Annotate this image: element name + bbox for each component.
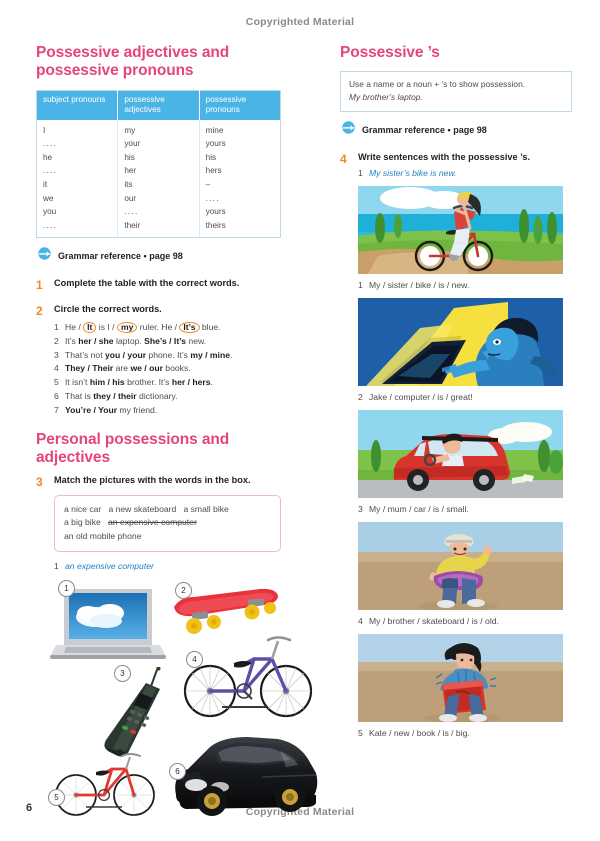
cell-subject: I <box>37 120 118 138</box>
cell-subject: .... <box>37 137 118 151</box>
right-column: Possessive ’s Use a name or a noun + ’s … <box>340 44 572 738</box>
prompt-number: 4 <box>358 616 363 626</box>
item-text: . <box>230 350 232 360</box>
word-box-line: a big bike an expensive computer <box>64 516 271 530</box>
prompt-text: My / sister / bike / is / new. <box>369 280 469 290</box>
word-box-option[interactable]: an old mobile phone <box>64 531 141 541</box>
word-box-option[interactable]: an expensive computer <box>108 517 197 527</box>
option-pair[interactable]: You’re / Your <box>65 405 117 415</box>
exercise-3-title: Match the pictures with the words in the… <box>54 475 251 487</box>
exercise-4-number: 4 <box>340 152 351 165</box>
grammar-reference-left[interactable]: Grammar reference • page 98 <box>38 247 281 265</box>
possessive-tip-box: Use a name or a noun + ’s to show posses… <box>340 71 572 111</box>
cell-pronoun: his <box>199 151 280 165</box>
exercise-4-title: Write sentences with the possessive ’s. <box>358 152 530 164</box>
option-pair[interactable]: my / mine <box>190 350 230 360</box>
item-text: dictionary. <box>137 391 178 401</box>
cell-subject: he <box>37 151 118 165</box>
exercise-1: 1 Complete the table with the correct wo… <box>36 278 281 291</box>
prompt-text: Kate / new / book / is / big. <box>369 728 470 738</box>
cell-adjective: my <box>118 120 199 138</box>
option-pair[interactable]: her / she <box>78 336 113 346</box>
prompt-number: 1 <box>358 280 363 290</box>
table-header-row: subject pronouns possessive adjectives p… <box>37 90 281 120</box>
cell-pronoun: hers <box>199 164 280 178</box>
exercise-3-number: 3 <box>36 475 47 488</box>
exercise-2-item[interactable]: 1He / It is I / my ruler. He / It’s blue… <box>54 321 281 335</box>
grammar-reference-label: Grammar reference • page 98 <box>362 125 487 135</box>
item-text: That is <box>65 391 93 401</box>
option-pair[interactable]: She’s / It’s <box>144 336 186 346</box>
cell-adjective: our <box>118 192 199 206</box>
cell-pronoun: yours <box>199 205 280 219</box>
item-text: brother. It’s <box>125 377 172 387</box>
word-box-option[interactable]: a new skateboard <box>108 504 176 514</box>
exercise-4-prompt-3: 3 My / mum / car / is / small. <box>358 504 572 514</box>
section-title-possessives: Possessive adjectives and possessive pro… <box>36 44 281 81</box>
item-number: 1 <box>54 321 59 335</box>
prompt-text: My / brother / skateboard / is / old. <box>369 616 499 626</box>
grammar-reference-icon <box>38 247 51 265</box>
illustration-boy-with-skateboard <box>358 522 563 610</box>
watermark-top: Copyrighted Material <box>0 16 600 28</box>
cell-adjective: his <box>118 151 199 165</box>
prompt-number: 5 <box>358 728 363 738</box>
circled-answer[interactable]: my <box>117 322 137 333</box>
word-box: a nice car a new skateboard a small bike… <box>54 495 281 553</box>
exercise-2-item[interactable]: 6That is they / their dictionary. <box>54 390 281 404</box>
illustration-girl-carrying-red-book <box>358 634 563 722</box>
exercise-2-number: 2 <box>36 304 47 317</box>
cell-subject: you <box>37 205 118 219</box>
exercise-2: 2 Circle the correct words. 1He / It is … <box>36 304 281 418</box>
table-header-possessive-adjectives: possessive adjectives <box>118 90 199 120</box>
item-text: laptop. <box>114 336 145 346</box>
table-row: ....youryours <box>37 137 281 151</box>
page-number: 6 <box>26 802 32 814</box>
table-header-possessive-pronouns: possessive pronouns <box>199 90 280 120</box>
exercise-2-item[interactable]: 7You’re / Your my friend. <box>54 404 281 418</box>
prompt-number: 3 <box>358 504 363 514</box>
table-row: hehishis <box>37 151 281 165</box>
item-text: It isn’t <box>65 377 90 387</box>
answer-number: 1 <box>54 561 59 571</box>
option-pair[interactable]: her / hers <box>172 377 211 387</box>
item-text: . <box>211 377 213 387</box>
table-row: ....theirtheirs <box>37 219 281 237</box>
example-number: 1 <box>358 168 363 178</box>
item-text: new. <box>186 336 206 346</box>
option-pair[interactable]: him / his <box>90 377 125 387</box>
option-pair[interactable]: we / our <box>130 363 162 373</box>
cell-pronoun: mine <box>199 120 280 138</box>
example-text: My sister’s bike is new. <box>369 168 457 178</box>
word-box-line: an old mobile phone <box>64 530 271 544</box>
cell-adjective: her <box>118 164 199 178</box>
item-text: It’s <box>65 336 78 346</box>
picture-red-small-bike <box>52 749 156 819</box>
circled-answer[interactable]: It <box>83 322 96 333</box>
exercise-2-items: 1He / It is I / my ruler. He / It’s blue… <box>36 321 281 418</box>
exercise-4-prompt-1: 1 My / sister / bike / is / new. <box>358 280 572 290</box>
table-body: Imymine ....youryours hehishis ....herhe… <box>37 120 281 238</box>
item-text: my friend. <box>117 405 157 415</box>
illustration-woman-driving-red-car <box>358 410 563 498</box>
picture-grid: 1 2 <box>36 577 281 827</box>
item-text: are <box>113 363 130 373</box>
circled-answer[interactable]: It’s <box>179 322 199 333</box>
item-number: 2 <box>54 335 59 349</box>
item-number: 4 <box>54 362 59 376</box>
exercise-3: 3 Match the pictures with the words in t… <box>36 475 281 828</box>
cell-adjective: your <box>118 137 199 151</box>
exercise-3-answer-1[interactable]: 1 an expensive computer <box>54 561 281 571</box>
cell-subject: .... <box>37 219 118 237</box>
item-number: 6 <box>54 390 59 404</box>
illustration-girl-cycling-by-lake <box>358 186 563 274</box>
grammar-reference-icon <box>342 121 355 139</box>
pronoun-table: subject pronouns possessive adjectives p… <box>36 90 281 238</box>
illustration-boy-at-laptop <box>358 298 563 386</box>
word-box-option[interactable]: a big bike <box>64 517 101 527</box>
tip-line-2: My brother’s laptop. <box>349 91 563 104</box>
exercise-1-title: Complete the table with the correct word… <box>54 278 239 290</box>
answer-text: an expensive computer <box>65 561 154 571</box>
tip-line-1: Use a name or a noun + ’s to show posses… <box>349 78 563 91</box>
prompt-text: Jake / computer / is / great! <box>369 392 473 402</box>
item-number: 7 <box>54 404 59 418</box>
picture-purple-bike <box>182 629 314 721</box>
exercise-2-item[interactable]: 2It’s her / she laptop. She’s / It’s new… <box>54 335 281 349</box>
word-box-line: a nice car a new skateboard a small bike <box>64 503 271 517</box>
item-text: blue. <box>200 322 221 332</box>
exercise-2-title: Circle the correct words. <box>54 304 162 316</box>
table-header-subject-pronouns: subject pronouns <box>37 90 118 120</box>
option-pair[interactable]: they / their <box>93 391 136 401</box>
cell-adjective: their <box>118 219 199 237</box>
word-gap <box>101 517 108 527</box>
prompt-text: My / mum / car / is / small. <box>369 504 469 514</box>
cell-pronoun: .... <box>199 192 280 206</box>
option-pair[interactable]: They / Their <box>65 363 113 373</box>
table-row: Imymine <box>37 120 281 138</box>
cell-subject: we <box>37 192 118 206</box>
section-title-possessive-s: Possessive ’s <box>340 44 572 62</box>
option-pair[interactable]: you / your <box>105 350 146 360</box>
table-row: itits– <box>37 178 281 192</box>
item-text: phone. It’s <box>146 350 190 360</box>
grammar-reference-label: Grammar reference • page 98 <box>58 251 183 261</box>
exercise-4-example: 1 My sister’s bike is new. <box>358 168 572 178</box>
word-box-option[interactable]: a small bike <box>183 504 228 514</box>
cell-pronoun: theirs <box>199 219 280 237</box>
item-number: 5 <box>54 376 59 390</box>
item-text: books. <box>163 363 191 373</box>
table-row: weour.... <box>37 192 281 206</box>
exercise-1-number: 1 <box>36 278 47 291</box>
cell-subject: .... <box>37 164 118 178</box>
section-title-personal-possessions: Personal possessions and adjectives <box>36 431 281 468</box>
item-number: 3 <box>54 349 59 363</box>
exercise-2-item[interactable]: 3That’s not you / your phone. It’s my / … <box>54 349 281 363</box>
left-column: Possessive adjectives and possessive pro… <box>36 44 281 827</box>
cell-pronoun: yours <box>199 137 280 151</box>
prompt-number: 2 <box>358 392 363 402</box>
exercise-4: 4 Write sentences with the possessive ’s… <box>340 152 572 738</box>
exercise-4-prompt-2: 2 Jake / computer / is / great! <box>358 392 572 402</box>
exercise-2-item[interactable]: 5It isn’t him / his brother. It’s her / … <box>54 376 281 390</box>
item-text: He / <box>65 322 83 332</box>
cell-adjective: .... <box>118 205 199 219</box>
word-box-option[interactable]: a nice car <box>64 504 101 514</box>
picture-black-car <box>166 725 322 821</box>
exercise-2-item[interactable]: 4They / Their are we / our books. <box>54 362 281 376</box>
grammar-reference-right[interactable]: Grammar reference • page 98 <box>342 121 572 139</box>
table-row: you....yours <box>37 205 281 219</box>
cell-pronoun: – <box>199 178 280 192</box>
table-row: ....herhers <box>37 164 281 178</box>
item-text: That’s not <box>65 350 105 360</box>
cell-adjective: its <box>118 178 199 192</box>
item-text: is I / <box>96 322 117 332</box>
exercise-4-prompt-4: 4 My / brother / skateboard / is / old. <box>358 616 572 626</box>
exercise-4-prompt-5: 5 Kate / new / book / is / big. <box>358 728 572 738</box>
cell-subject: it <box>37 178 118 192</box>
item-text: ruler. He / <box>137 322 179 332</box>
